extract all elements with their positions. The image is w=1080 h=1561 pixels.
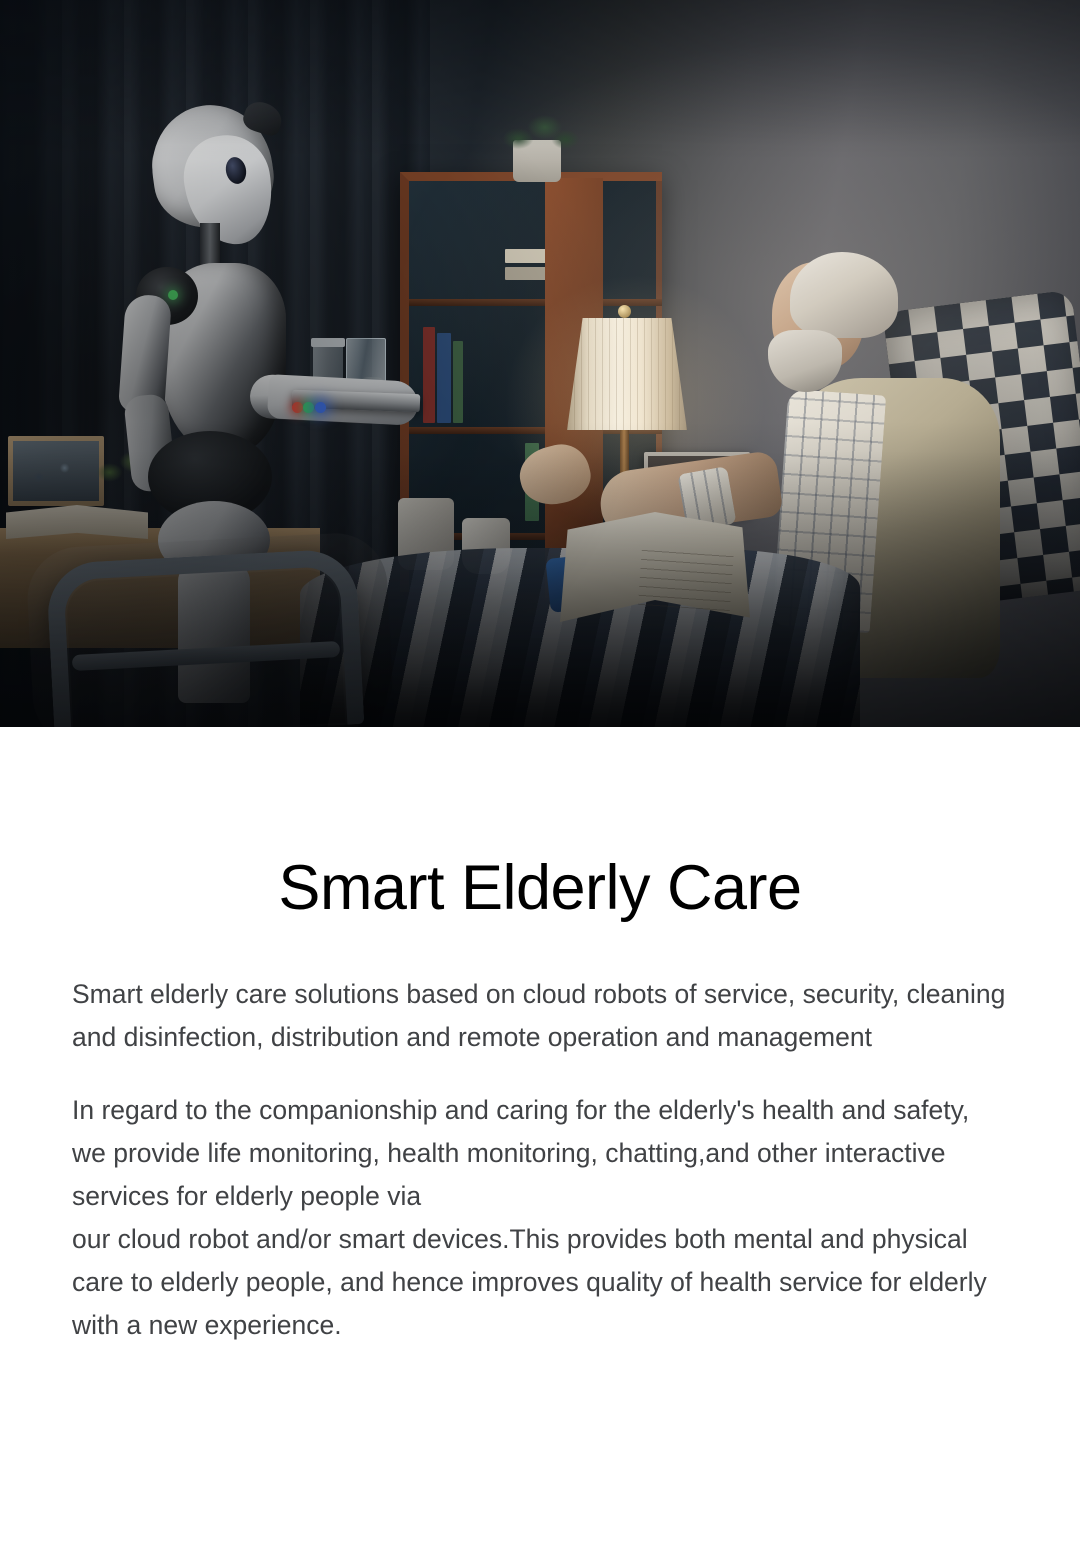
article-content: Smart Elderly Care Smart elderly care so… (0, 855, 1080, 1347)
hero-image (0, 0, 1080, 727)
body-copy: Smart elderly care solutions based on cl… (72, 973, 1008, 1346)
hero-scene (0, 0, 1080, 727)
hero-vignette (0, 0, 1080, 727)
paragraph-1: Smart elderly care solutions based on cl… (72, 973, 1008, 1059)
page-title: Smart Elderly Care (72, 855, 1008, 921)
paragraph-2: In regard to the companionship and carin… (72, 1089, 1008, 1347)
